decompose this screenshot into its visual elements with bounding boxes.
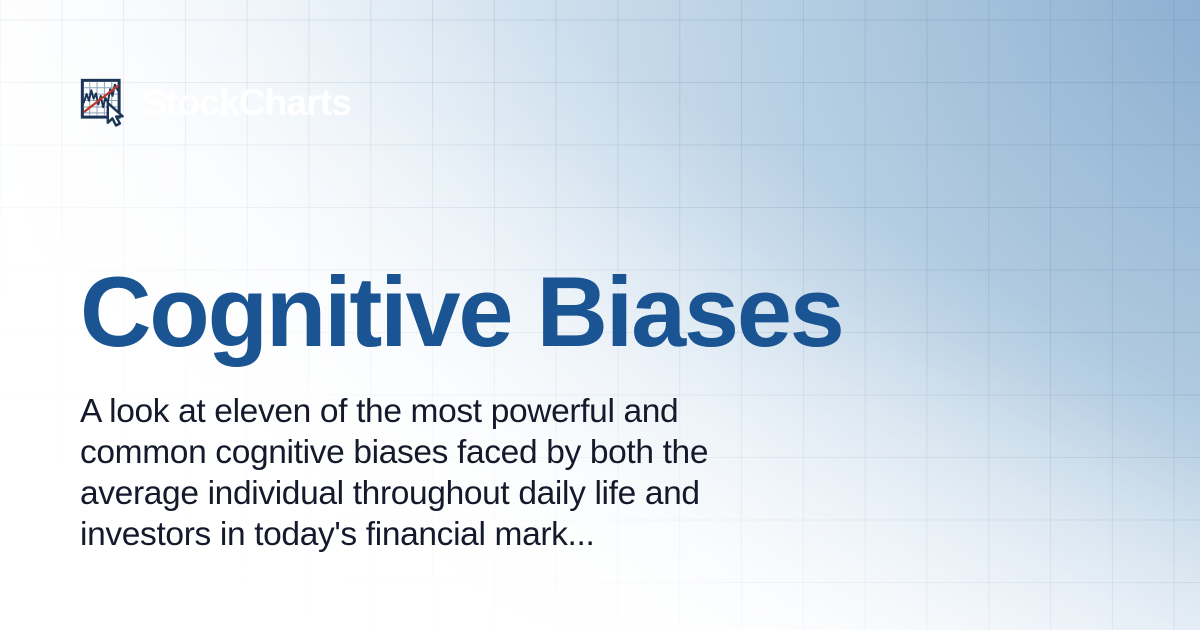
- card-content: StockCharts Cognitive Biases A look at e…: [0, 0, 1200, 630]
- page-title: Cognitive Biases: [80, 262, 843, 361]
- brand-name: StockCharts: [142, 84, 351, 121]
- social-share-card: StockCharts Cognitive Biases A look at e…: [0, 0, 1200, 630]
- brand-lockup[interactable]: StockCharts: [80, 78, 351, 127]
- stock-chart-cursor-icon: [80, 78, 129, 127]
- page-description: A look at eleven of the most powerful an…: [80, 391, 780, 555]
